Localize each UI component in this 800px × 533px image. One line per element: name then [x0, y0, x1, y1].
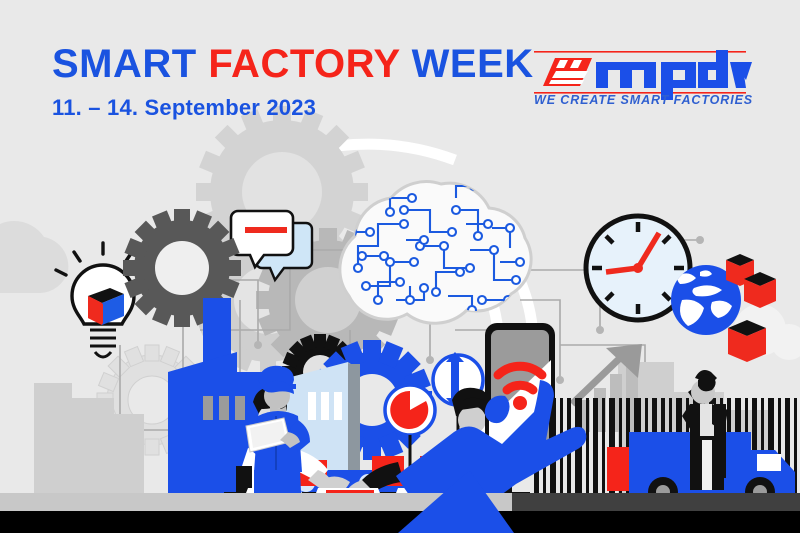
mpdv-mark — [543, 58, 592, 86]
title-week: WEEK — [400, 42, 534, 86]
poster-canvas: SMART FACTORY WEEK 11. – 14. September 2… — [0, 0, 800, 533]
title-smart: SMART — [52, 42, 208, 86]
logo-tagline: WE CREATE SMART FACTORIES — [534, 93, 753, 107]
page-title: SMART FACTORY WEEK — [52, 44, 534, 84]
event-dates: 11. – 14. September 2023 — [52, 95, 316, 121]
title-factory: FACTORY — [208, 42, 400, 86]
pie-chart-icon — [385, 385, 435, 435]
